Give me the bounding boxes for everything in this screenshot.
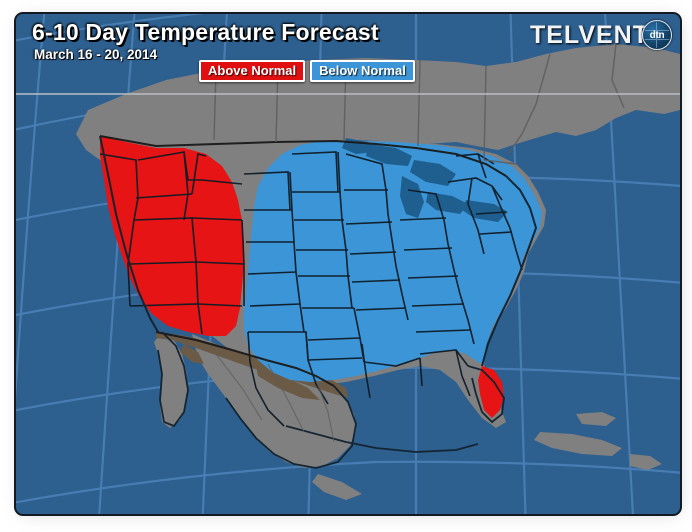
- weather-map-screenshot: 6-10 Day Temperature Forecast March 16 -…: [0, 0, 692, 532]
- map-frame: 6-10 Day Temperature Forecast March 16 -…: [14, 12, 682, 516]
- header-divider: [16, 93, 680, 95]
- map-graphic: [16, 14, 680, 514]
- forecast-map[interactable]: [16, 14, 680, 514]
